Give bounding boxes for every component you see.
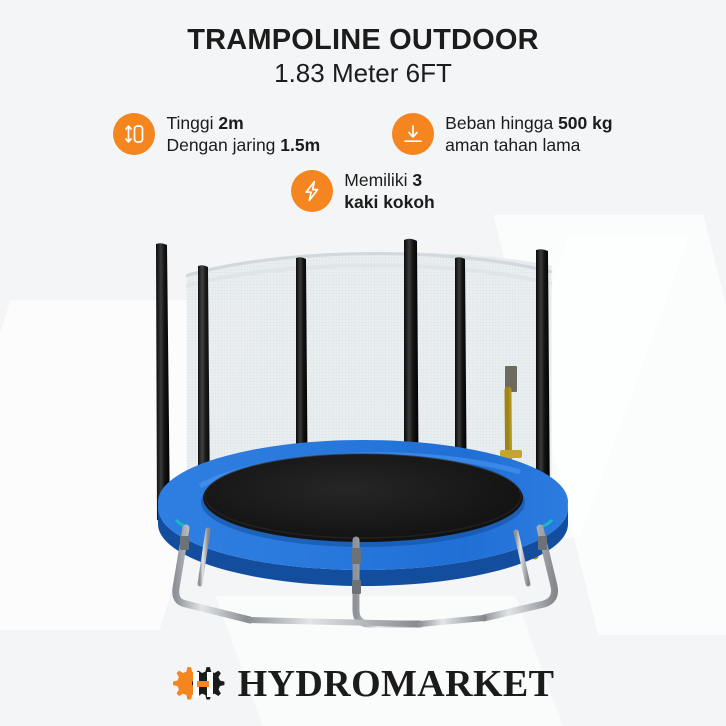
feature-legs-line2: kaki kokoh xyxy=(344,192,434,212)
load-capacity-down-arrow-icon xyxy=(392,113,434,155)
feature-row-top: Tinggi 2m Dengan jaring 1.5m xyxy=(0,112,726,156)
lightning-bolt-icon xyxy=(291,170,333,212)
hydromarket-gear-logo xyxy=(172,656,234,712)
brand-logo: HYDROMARKET xyxy=(0,656,726,712)
headline-block: TRAMPOLINE OUTDOOR 1.83 Meter 6FT xyxy=(0,24,726,89)
feature-row-bottom: Memiliki 3 kaki kokoh xyxy=(0,169,726,213)
feature-item-height: Tinggi 2m Dengan jaring 1.5m xyxy=(113,112,320,156)
leg-crossbar-right xyxy=(420,618,484,624)
feature-legs-line1: Memiliki 3 xyxy=(344,170,422,190)
feature-text-height: Tinggi 2m Dengan jaring 1.5m xyxy=(166,112,320,156)
product-image-trampoline xyxy=(0,228,726,653)
feature-item-legs: Memiliki 3 kaki kokoh xyxy=(291,169,434,213)
feature-list: Tinggi 2m Dengan jaring 1.5m xyxy=(0,112,726,213)
page-title: TRAMPOLINE OUTDOOR xyxy=(0,24,726,57)
leg-crossbar-left xyxy=(250,620,420,624)
height-measure-icon xyxy=(113,113,155,155)
brand-name: HYDROMARKET xyxy=(238,665,555,703)
feature-height-line2: Dengan jaring 1.5m xyxy=(166,135,320,155)
feature-height-line1: Tinggi 2m xyxy=(166,113,243,133)
feature-load-line2: aman tahan lama xyxy=(445,135,580,155)
jumping-mat xyxy=(203,454,523,542)
feature-item-load-capacity: Beban hingga 500 kg aman tahan lama xyxy=(392,112,612,156)
product-marketing-poster: TRAMPOLINE OUTDOOR 1.83 Meter 6FT xyxy=(0,0,726,726)
feature-text-legs: Memiliki 3 kaki kokoh xyxy=(344,169,434,213)
feature-text-load-capacity: Beban hingga 500 kg aman tahan lama xyxy=(445,112,612,156)
pole-1 xyxy=(156,243,170,521)
page-subtitle: 1.83 Meter 6FT xyxy=(0,58,726,89)
feature-load-line1: Beban hingga 500 kg xyxy=(445,113,612,133)
